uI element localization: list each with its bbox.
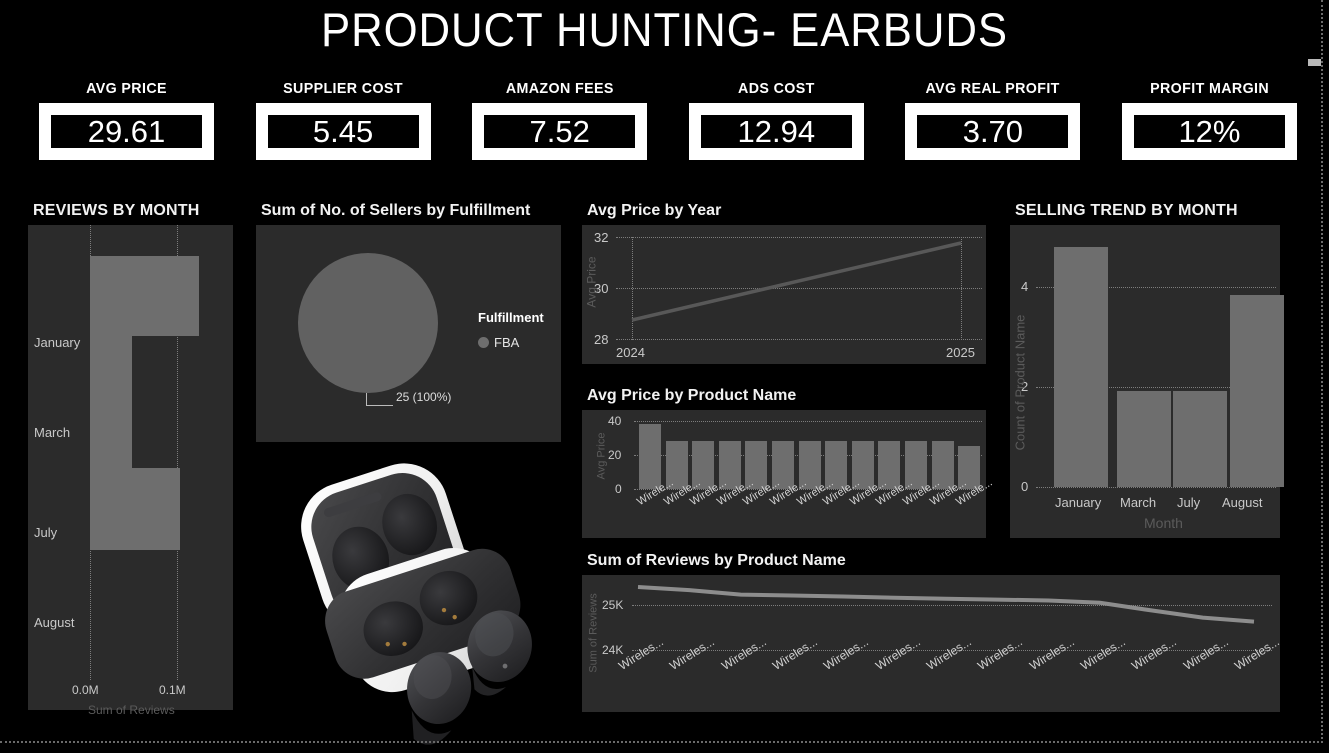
kpi-row: AVG PRICE 29.61 SUPPLIER COST 5.45 AMAZO… [24,80,1312,180]
y-axis-title: Sum of Reviews [588,593,600,672]
chart-reviews-by-month[interactable]: REVIEWS BY MONTH January March July Augu… [24,196,237,714]
kpi-value: 12% [1178,116,1240,147]
legend-swatch-icon [478,337,489,348]
kpi-frame: 12% [1122,103,1297,160]
chart-title: Sum of No. of Sellers by Fulfillment [252,196,565,225]
y-tick-label: August [34,615,74,630]
resize-handle[interactable] [1308,59,1321,66]
chart-title: REVIEWS BY MONTH [24,196,237,225]
chart-title: Sum of Reviews by Product Name [578,546,1284,575]
kpi-frame: 12.94 [689,103,864,160]
legend-label: FBA [494,335,519,350]
pie-leader-line [366,393,393,406]
kpi-card-profit-margin[interactable]: PROFIT MARGIN 12% [1107,80,1312,180]
bar[interactable] [639,424,661,489]
y-tick-label: 40 [608,414,621,428]
y-tick-label: 4 [1021,279,1028,294]
line-series[interactable] [582,225,986,364]
bar[interactable] [1173,391,1227,487]
y-tick-label: 0 [1021,479,1028,494]
y-tick-label: 28 [594,332,608,347]
y-axis-title: Count of Product Name [1012,315,1027,451]
plot-area: 25K 24K Sum of Reviews Wireles...Wireles… [582,575,1280,712]
kpi-card-supplier-cost[interactable]: SUPPLIER COST 5.45 [241,80,446,180]
chart-sellers-by-fulfillment[interactable]: Sum of No. of Sellers by Fulfillment 25 … [252,196,565,446]
kpi-frame: 7.52 [472,103,647,160]
x-axis-title: Month [1144,515,1183,531]
chart-sum-reviews-by-product[interactable]: Sum of Reviews by Product Name 25K 24K S… [578,546,1284,716]
kpi-frame: 29.61 [39,103,214,160]
y-tick-label: January [34,335,80,350]
kpi-inner: 7.52 [484,115,635,148]
y-tick-label: 20 [608,448,621,462]
kpi-inner: 12.94 [701,115,852,148]
bar[interactable] [1054,247,1108,487]
kpi-value: 7.52 [530,116,590,147]
x-tick-label: March [1120,495,1156,510]
x-tick-label: 2025 [946,345,975,360]
y-axis-title: Avg Price [595,433,607,480]
legend-title: Fulfillment [478,310,544,325]
pie-slice-fba[interactable] [298,253,438,393]
kpi-label: AMAZON FEES [506,80,614,97]
bar[interactable] [1230,295,1284,487]
gridline-h [1036,487,1276,488]
kpi-value: 3.70 [963,116,1023,147]
kpi-inner: 3.70 [917,115,1068,148]
kpi-inner: 29.61 [51,115,202,148]
earbuds-product-image [262,448,562,748]
plot-area: January March July August 0.0M 0.1M Sum … [28,225,233,710]
y-tick-label: March [34,425,70,440]
chart-selling-trend-by-month[interactable]: SELLING TREND BY MONTH 4 2 0 Count of Pr… [1006,196,1284,542]
x-tick-label: 0.0M [72,683,99,697]
kpi-inner: 5.45 [268,115,419,148]
plot-area: 40 20 0 Avg Price Wirele...Wirele...Wire… [582,410,986,538]
kpi-label: ADS COST [738,80,815,97]
y-tick-label: 24K [602,643,623,657]
kpi-value: 29.61 [88,116,166,147]
y-tick-label: 32 [594,230,608,245]
kpi-frame: 5.45 [256,103,431,160]
kpi-inner: 12% [1134,115,1285,148]
gridline-h [634,421,982,422]
bar[interactable] [90,468,180,550]
chart-title: Avg Price by Product Name [578,381,990,410]
kpi-value: 5.45 [313,116,373,147]
bar[interactable] [1117,391,1171,487]
x-axis-title: Sum of Reviews [88,703,175,717]
pie-data-label: 25 (100%) [396,390,451,404]
kpi-label: AVG PRICE [86,80,167,97]
kpi-label: PROFIT MARGIN [1150,80,1269,97]
kpi-label: SUPPLIER COST [283,80,403,97]
kpi-card-amazon-fees[interactable]: AMAZON FEES 7.52 [457,80,662,180]
chart-avg-price-by-product[interactable]: Avg Price by Product Name 40 20 0 Avg Pr… [578,381,990,542]
y-tick-label: July [34,525,57,540]
page-title: PRODUCT HUNTING- EARBUDS [47,2,1283,57]
plot-area: 32 30 28 Avg Price 2024 2025 [582,225,986,364]
x-tick-label: July [1177,495,1200,510]
x-tick-label: August [1222,495,1262,510]
kpi-label: AVG REAL PROFIT [926,80,1060,97]
kpi-card-avg-price[interactable]: AVG PRICE 29.61 [24,80,229,180]
chart-title: Avg Price by Year [578,196,990,225]
chart-title: SELLING TREND BY MONTH [1006,196,1284,225]
x-tick-label: January [1055,495,1101,510]
kpi-card-avg-real-profit[interactable]: AVG REAL PROFIT 3.70 [890,80,1095,180]
kpi-card-ads-cost[interactable]: ADS COST 12.94 [674,80,879,180]
y-tick-label: 0 [615,482,622,496]
plot-area: 4 2 0 Count of Product Name January Marc… [1010,225,1280,538]
kpi-value: 12.94 [737,116,815,147]
chart-avg-price-by-year[interactable]: Avg Price by Year 32 30 28 Avg Price 202… [578,196,990,368]
x-tick-label: 0.1M [159,683,186,697]
kpi-frame: 3.70 [905,103,1080,160]
y-tick-label: 25K [602,598,623,612]
y-axis-title: Avg Price [585,256,599,307]
x-tick-label: 2024 [616,345,645,360]
bar[interactable] [90,390,132,470]
plot-area: 25 (100%) Fulfillment FBA [256,225,561,442]
legend-item-fba[interactable]: FBA [478,335,519,350]
